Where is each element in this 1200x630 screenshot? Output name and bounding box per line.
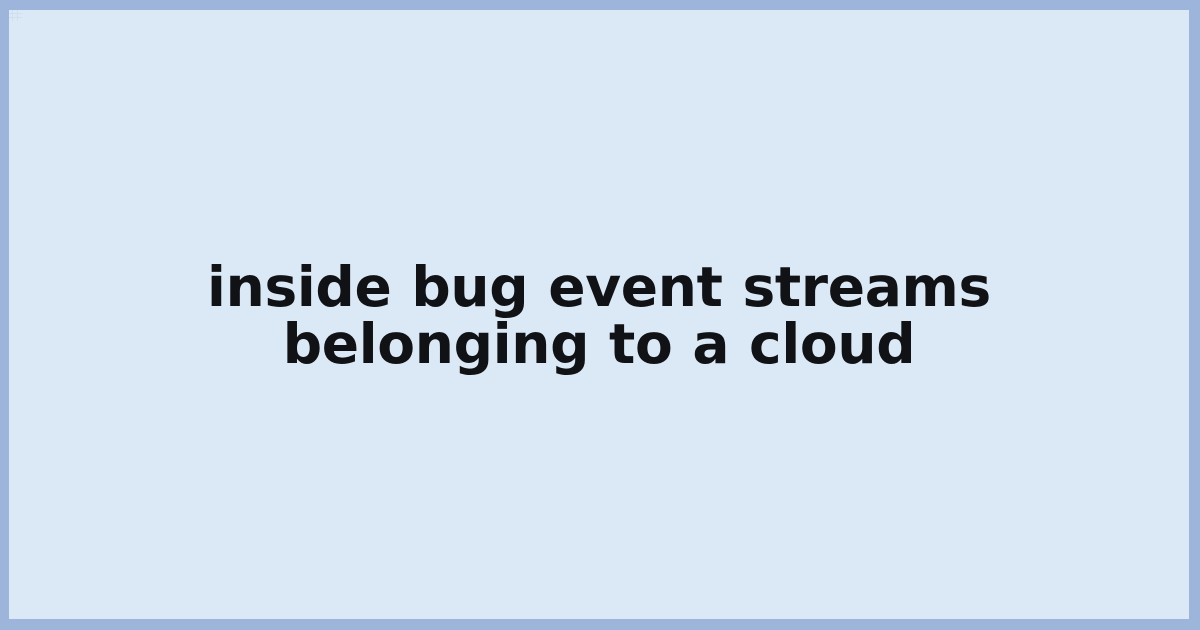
card-content-area: inside bug event streams belonging to a … [9,10,1189,619]
headline-text: inside bug event streams belonging to a … [61,259,1137,373]
social-preview-card: inside bug event streams belonging to a … [0,0,1200,630]
